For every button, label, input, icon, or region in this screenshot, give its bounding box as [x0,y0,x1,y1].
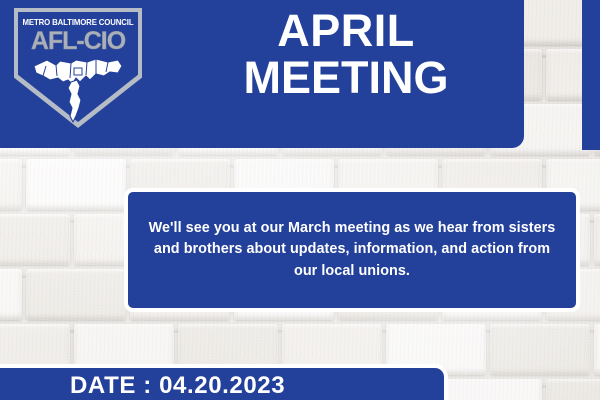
brick [0,214,70,265]
poster-title: APRIL MEETING [176,8,516,102]
brick [546,379,600,400]
brick [594,214,600,265]
brick [594,324,600,375]
poster-canvas: METRO BALTIMORE COUNCIL AFL-CIO [0,0,600,400]
brick [26,269,126,320]
logo-afl-cio-text: AFL-CIO [14,27,142,56]
title-line-1: APRIL [176,8,516,55]
right-edge-accent-strip [582,0,600,150]
brick [442,379,542,400]
brick [0,159,22,210]
brick [0,269,22,320]
brick [490,324,590,375]
logo-council-name: METRO BALTIMORE COUNCIL [19,17,137,27]
date-bar: DATE : 04.20.2023 [0,364,448,400]
date-label: DATE : 04.20.2023 [0,372,285,400]
brick [26,159,126,210]
message-panel: We'll see you at our March meeting as we… [124,188,580,312]
title-line-2: MEETING [176,55,516,102]
message-paragraph: We'll see you at our March meeting as we… [128,218,576,283]
afl-cio-logo: METRO BALTIMORE COUNCIL AFL-CIO [14,8,142,128]
maryland-state-map-icon [30,56,126,124]
header-bar: METRO BALTIMORE COUNCIL AFL-CIO [0,0,524,148]
